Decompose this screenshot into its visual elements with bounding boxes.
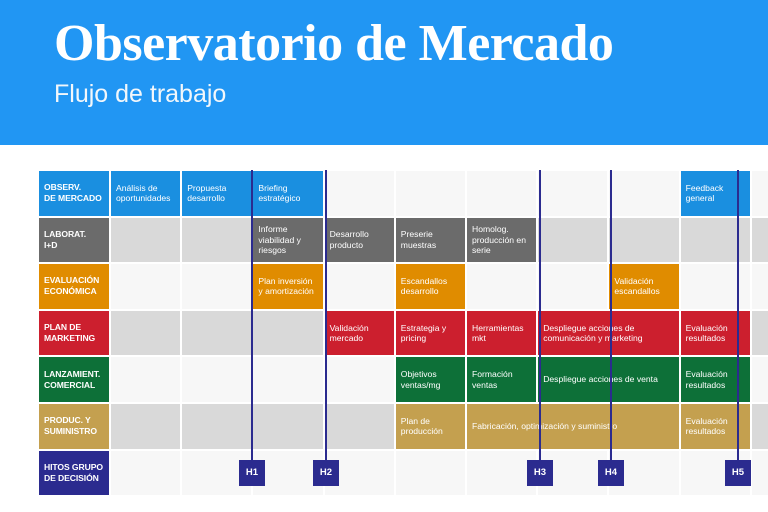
task-cell-label: Estrategia y pricing — [396, 323, 465, 344]
row-label-5: LANZAMIENT.COMERCIAL — [38, 356, 110, 403]
task-cell[interactable]: Estrategia y pricing — [395, 310, 466, 357]
workflow-grid: OBSERV.DE MERCADOAnálisis de oportunidad… — [38, 170, 752, 496]
row-label-4: PLAN DEMARKETING — [38, 310, 110, 357]
empty-cell — [751, 310, 768, 357]
milestone-box-H4[interactable]: H4 — [598, 460, 624, 486]
empty-cell — [181, 217, 252, 264]
task-cell-label: Plan inversión y amortización — [253, 276, 322, 297]
empty-cell — [324, 170, 395, 217]
empty-cell — [252, 403, 323, 450]
empty-cell — [751, 403, 768, 450]
task-cell[interactable]: Plan inversión y amortización — [252, 263, 323, 310]
milestone-line-H3 — [539, 170, 541, 460]
row-label-text: EVALUACIÓNECONÓMICA — [39, 275, 104, 297]
empty-cell — [252, 310, 323, 357]
empty-cell — [466, 170, 537, 217]
task-cell-label: Despliegue acciones de venta — [538, 374, 663, 385]
task-cell-label: Preserie muestras — [396, 229, 465, 250]
task-cell[interactable]: Desarrollo producto — [324, 217, 395, 264]
task-cell-label: Formación ventas — [467, 369, 536, 390]
row-label-text: OBSERV.DE MERCADO — [39, 182, 107, 204]
task-cell-label: Validación mercado — [325, 323, 394, 344]
empty-cell — [324, 356, 395, 403]
empty-cell — [751, 450, 768, 497]
milestone-box-H2[interactable]: H2 — [313, 460, 339, 486]
page-title: Observatorio de Mercado — [54, 14, 768, 74]
milestone-box-H1[interactable]: H1 — [239, 460, 265, 486]
task-cell-label: Plan de producción — [396, 416, 465, 437]
page-subtitle: Flujo de trabajo — [54, 78, 768, 110]
row-label-text: LANZAMIENT.COMERCIAL — [39, 369, 105, 391]
task-cell-label: Feedback general — [681, 183, 750, 204]
empty-cell — [395, 450, 466, 497]
task-cell[interactable]: Análisis de oportunidades — [110, 170, 181, 217]
empty-cell — [680, 263, 751, 310]
task-cell-label: Despliegue acciones de comunicación y ma… — [538, 323, 678, 344]
task-cell[interactable]: Herramientas mkt — [466, 310, 537, 357]
empty-cell — [324, 263, 395, 310]
empty-cell — [110, 217, 181, 264]
empty-cell — [751, 170, 768, 217]
empty-cell — [751, 356, 768, 403]
empty-cell — [110, 403, 181, 450]
row-label-3: EVALUACIÓNECONÓMICA — [38, 263, 110, 310]
task-cell[interactable]: Propuesta desarrollo — [181, 170, 252, 217]
empty-cell — [680, 217, 751, 264]
row-label-text: PRODUC. YSUMINISTRO — [39, 415, 102, 437]
row-label-text: PLAN DEMARKETING — [39, 322, 100, 344]
empty-cell — [751, 217, 768, 264]
row-label-text: HITOS GRUPODE DECISIÓN — [39, 462, 108, 484]
task-cell-label: Briefing estratégico — [253, 183, 322, 204]
task-cell-label: Análisis de oportunidades — [111, 183, 180, 204]
empty-cell — [181, 403, 252, 450]
task-cell[interactable]: Validación mercado — [324, 310, 395, 357]
task-cell[interactable]: Plan de producción — [395, 403, 466, 450]
empty-cell — [537, 170, 608, 217]
task-cell-label: Fabricación, optimización y suministro — [467, 421, 622, 432]
task-cell[interactable]: Homolog. producción en serie — [466, 217, 537, 264]
milestone-line-H5 — [737, 170, 739, 460]
task-cell[interactable]: Formación ventas — [466, 356, 537, 403]
empty-cell — [110, 310, 181, 357]
task-cell-label: Evaluación resultados — [681, 369, 750, 390]
task-cell-label: Escandallos desarrollo — [396, 276, 465, 297]
task-cell[interactable]: Validación escandallos — [608, 263, 679, 310]
task-cell[interactable]: Briefing estratégico — [252, 170, 323, 217]
milestone-line-H2 — [325, 170, 327, 460]
task-cell-label: Desarrollo producto — [325, 229, 394, 250]
row-label-1: OBSERV.DE MERCADO — [38, 170, 110, 217]
row-label-text: LABORAT.I+D — [39, 229, 91, 251]
empty-cell — [110, 263, 181, 310]
task-cell-label: Herramientas mkt — [467, 323, 536, 344]
task-cell[interactable]: Informe viabilidad y riesgos — [252, 217, 323, 264]
row-label-6: PRODUC. YSUMINISTRO — [38, 403, 110, 450]
empty-cell — [181, 356, 252, 403]
workflow-slide: Observatorio de Mercado Flujo de trabajo… — [0, 0, 768, 512]
milestone-box-H5[interactable]: H5 — [725, 460, 751, 486]
task-cell[interactable]: Evaluación resultados — [680, 310, 751, 357]
empty-cell — [324, 403, 395, 450]
task-cell[interactable]: Fabricación, optimización y suministro — [466, 403, 680, 450]
row-label-7: HITOS GRUPODE DECISIÓN — [38, 450, 110, 497]
task-cell[interactable]: Preserie muestras — [395, 217, 466, 264]
empty-cell — [252, 356, 323, 403]
task-cell-label: Evaluación resultados — [681, 323, 750, 344]
task-cell-label: Objetivos ventas/mg — [396, 369, 465, 390]
empty-cell — [751, 263, 768, 310]
empty-cell — [537, 263, 608, 310]
empty-cell — [466, 263, 537, 310]
task-cell[interactable]: Objetivos ventas/mg — [395, 356, 466, 403]
milestone-line-H4 — [610, 170, 612, 460]
empty-cell — [110, 450, 181, 497]
task-cell-label: Evaluación resultados — [681, 416, 750, 437]
task-cell-label: Propuesta desarrollo — [182, 183, 251, 204]
task-cell[interactable]: Feedback general — [680, 170, 751, 217]
empty-cell — [181, 263, 252, 310]
row-label-2: LABORAT.I+D — [38, 217, 110, 264]
empty-cell — [537, 217, 608, 264]
task-cell-label: Homolog. producción en serie — [467, 224, 536, 256]
empty-cell — [181, 310, 252, 357]
empty-cell — [608, 170, 679, 217]
empty-cell — [395, 170, 466, 217]
milestone-box-H3[interactable]: H3 — [527, 460, 553, 486]
task-cell[interactable]: Despliegue acciones de venta — [537, 356, 679, 403]
empty-cell — [608, 217, 679, 264]
task-cell-label: Validación escandallos — [609, 276, 678, 297]
task-cell[interactable]: Evaluación resultados — [680, 356, 751, 403]
header-banner: Observatorio de Mercado Flujo de trabajo — [0, 0, 768, 145]
empty-cell — [110, 356, 181, 403]
task-cell[interactable]: Escandallos desarrollo — [395, 263, 466, 310]
task-cell[interactable]: Despliegue acciones de comunicación y ma… — [537, 310, 679, 357]
task-cell[interactable]: Evaluación resultados — [680, 403, 751, 450]
milestone-line-H1 — [251, 170, 253, 460]
task-cell-label: Informe viabilidad y riesgos — [253, 224, 322, 256]
